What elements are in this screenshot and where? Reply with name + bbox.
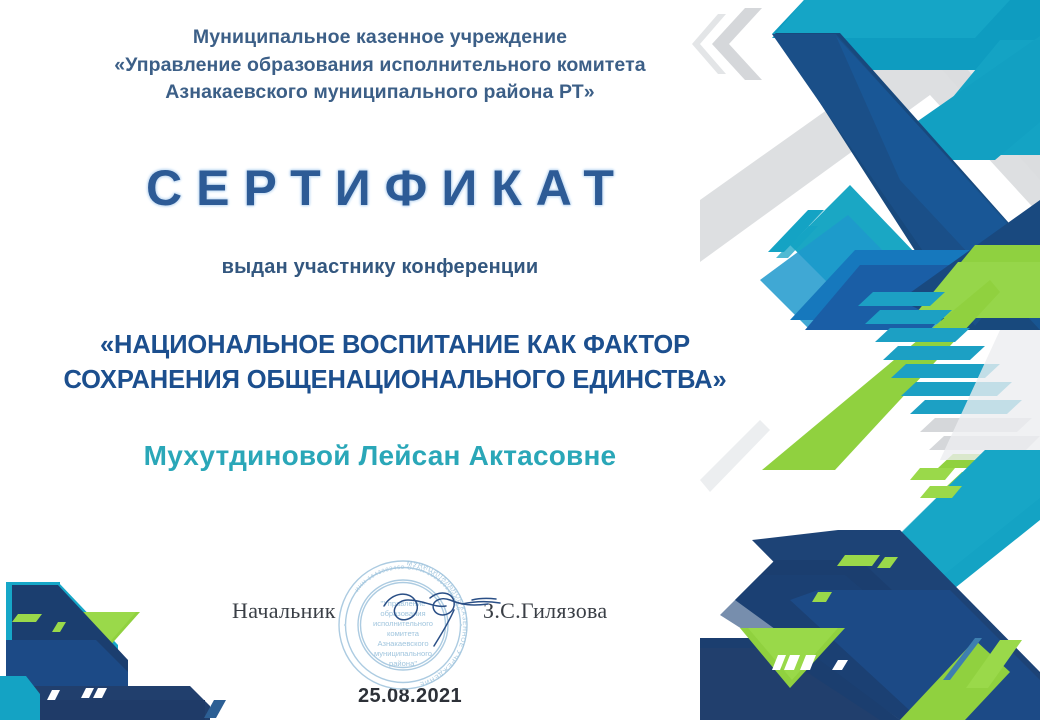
thin-bar-teal [768,210,826,258]
handwritten-signature [376,580,526,660]
organization-line-1: Муниципальное казенное учреждение [0,24,760,52]
organization-line-3: Азнакаевского муниципального района РТ» [0,79,760,107]
thin-bars-bottom-right [943,638,1022,688]
accent-bars-lower [812,468,962,602]
signature-role: Начальник [232,598,336,624]
conference-title: «НАЦИОНАЛЬНОЕ ВОСПИТАНИЕ КАК ФАКТОР СОХР… [0,328,790,398]
awarded-to-label: выдан участнику конференции [0,256,760,279]
organization-line-2: «Управление образования исполнительного … [0,52,760,80]
conference-title-line-1: «НАЦИОНАЛЬНОЕ ВОСПИТАНИЕ КАК ФАКТОР [0,328,790,363]
recipient-name: Мухутдиновой Лейсан Актасовне [0,440,760,472]
conference-title-line-2: СОХРАНЕНИЯ ОБЩЕНАЦИОНАЛЬНОГО ЕДИНСТВА» [0,363,790,398]
certificate-page: Муниципальное казенное учреждение «Управ… [0,0,1040,720]
stamp-center-line-7: района" [389,659,417,668]
certificate-title: СЕРТИФИКАТ [0,163,760,213]
certificate-content: Муниципальное казенное учреждение «Управ… [0,0,760,720]
white-dashes [772,655,848,670]
stripe-stack [858,292,1040,486]
organization-header: Муниципальное казенное учреждение «Управ… [0,24,760,107]
